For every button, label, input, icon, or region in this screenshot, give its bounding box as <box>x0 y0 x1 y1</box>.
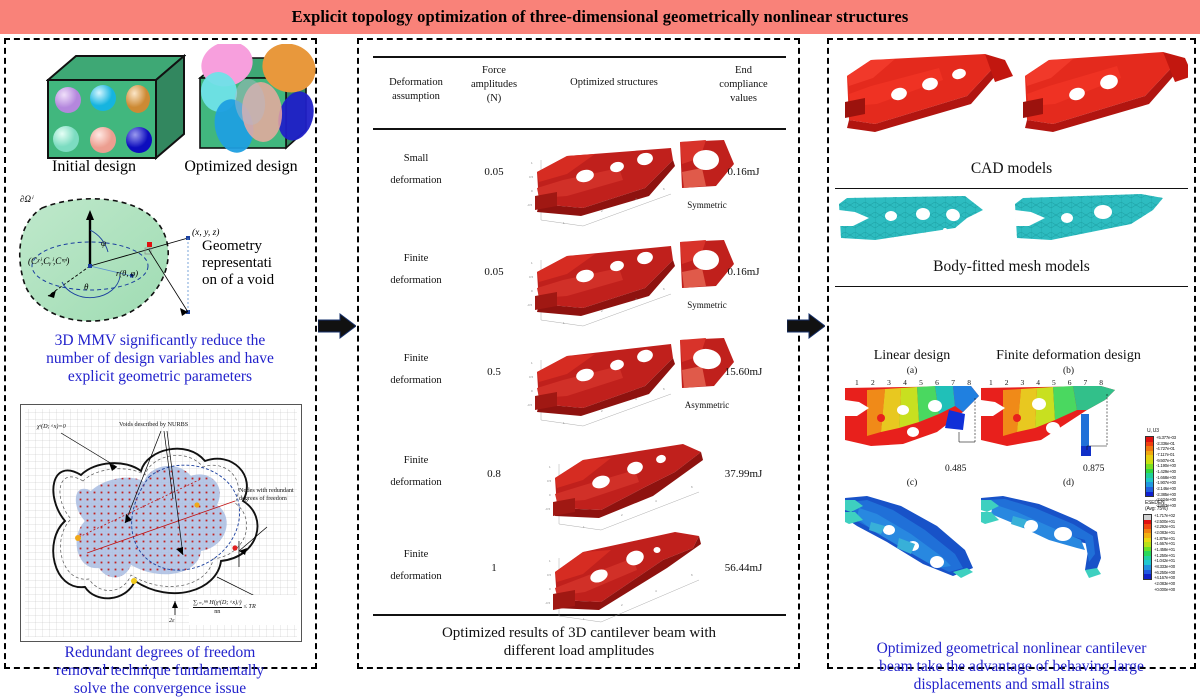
optimized-design-box <box>194 44 314 156</box>
cad-models-label: CAD models <box>835 160 1188 178</box>
fea-tag-c: (c) <box>847 478 977 488</box>
mid-caption-line-2: different load amplitudes <box>379 642 779 660</box>
cbar-en-v9: +8.333e+00 <box>1154 564 1175 570</box>
initial-design-label: Initial design <box>24 158 164 176</box>
geo-caption-line-2: representati <box>202 255 312 272</box>
svg-text:1: 1 <box>549 465 551 469</box>
nurbs-epsilon-label: 2ε <box>169 617 175 625</box>
cbar-disp-v6: -1.429e+00 <box>1156 469 1176 475</box>
dimension-value-finite: 0.875 <box>1083 464 1104 474</box>
col1-line1: Deformation <box>373 76 459 90</box>
arrow-right-icon <box>787 313 825 339</box>
svg-text:0: 0 <box>531 389 533 393</box>
row2-zoom-label: Symmetric <box>673 300 741 310</box>
svg-text:6: 6 <box>663 187 665 191</box>
row2-force-value: 0.05 <box>457 266 531 278</box>
divider-after-cad <box>835 188 1188 189</box>
row5-def-line1: Finite <box>373 544 459 566</box>
fea-tag-a: (a) <box>847 366 977 376</box>
colorbar-displacement-values: +5.377e-03 -2.336e-01 -4.727e-01 -7.117e… <box>1156 435 1176 509</box>
column-header-force: Force amplitudes (N) <box>457 64 531 107</box>
svg-text:0.5: 0.5 <box>547 479 552 483</box>
svg-text:4: 4 <box>655 499 657 503</box>
cbar-en-v6: +1.458e+01 <box>1154 547 1175 553</box>
row4-compliance-value: 37.99mJ <box>701 468 786 480</box>
center-coords-label: (Cᵡⁱ,Cᵧⁱ,Cᶬⁱ) <box>28 256 69 267</box>
row4-force-value: 0.8 <box>457 468 531 480</box>
row1-structure-3d: 10.50-0.5 1246 <box>523 134 678 228</box>
svg-text:1: 1 <box>531 261 533 265</box>
mesh-models-label: Body-fitted mesh models <box>835 258 1188 276</box>
svg-text:1: 1 <box>563 321 565 325</box>
col3-line1: Optimized structures <box>529 76 699 90</box>
row3-force-value: 0.5 <box>457 366 531 378</box>
point-coords-label: (x, y, z) <box>192 228 219 238</box>
nonlinear-advantage-caption: Optimized geometrical nonlinear cantilev… <box>835 640 1188 694</box>
fea-plot-a <box>841 384 981 462</box>
col4-line3: values <box>701 92 786 106</box>
nurbs-levelset-label: χˢ(D; ᵃx)=0 <box>37 423 66 431</box>
page-title: Explicit topology optimization of three-… <box>292 7 909 27</box>
table-row: Finite deformation <box>373 348 459 392</box>
row5-def-line2: deformation <box>373 566 459 588</box>
theta-angle-label: θ <box>84 282 88 292</box>
column-header-deformation: Deformation assumption <box>373 76 459 104</box>
colorbar-energy-title: ESEDEN (Avg: 75%) <box>1145 500 1168 513</box>
row4-def-line2: deformation <box>373 472 459 494</box>
row5-structure-3d: 10.50-0.5 1246 <box>543 530 708 626</box>
row2-def-line2: deformation <box>373 270 459 292</box>
arrow-right-icon <box>318 313 356 339</box>
col2-line3: (N) <box>457 92 531 106</box>
svg-text:1: 1 <box>583 617 585 621</box>
row1-force-value: 0.05 <box>457 166 531 178</box>
svg-text:-0.5: -0.5 <box>527 303 533 307</box>
colorbar-energy-values: +1.717e+02 +2.500e+01 +2.292e+01 +2.083e… <box>1154 513 1175 592</box>
svg-text:-0.5: -0.5 <box>527 403 533 407</box>
initial-design-svg <box>46 52 186 164</box>
row4-def-line1: Finite <box>373 450 459 472</box>
row2-def-line1: Finite <box>373 248 459 270</box>
svg-text:1: 1 <box>531 161 533 165</box>
cbar-disp-v9: -2.146e+00 <box>1156 486 1176 492</box>
svg-text:-0.5: -0.5 <box>527 203 533 207</box>
nurbs-constraint-formula: ∑ᵢ₌₁ⁿⁿ H(χˢ(D; ᵃx)ᵢˢ) nn ≤ TR <box>193 599 256 615</box>
void-geometry-figure: ∂Ωⁱ (Cᵡⁱ,Cᵧⁱ,Cᶬⁱ) (x, y, z) φ θ r(θ, φ) … <box>6 190 315 330</box>
svg-text:1: 1 <box>531 361 533 365</box>
table-row: Finite deformation <box>373 450 459 494</box>
fea-plot-d <box>977 492 1119 584</box>
flow-arrow-2 <box>787 313 825 339</box>
svg-text:-0.5: -0.5 <box>545 507 551 511</box>
svg-text:0: 0 <box>531 289 533 293</box>
column-header-compliance: End compliance values <box>701 64 786 107</box>
cbar-disp-v3: -7.117e-01 <box>1156 452 1176 458</box>
validation-sections: CAD models <box>829 40 1194 667</box>
fea-plot-b <box>977 384 1119 462</box>
table-rule-top <box>373 56 786 58</box>
nurbs-void-figure: χˢ(D; ᵃx)=0 Voids described by NURBS Nod… <box>20 404 302 642</box>
radius-function-label: r(θ, φ) <box>116 268 138 278</box>
geometry-representation-caption: Geometry representati on of a void <box>202 238 312 288</box>
colorbar-displacement-title: U, U3 <box>1147 428 1159 434</box>
boundary-symbol-label: ∂Ωⁱ <box>20 194 33 205</box>
optimized-design-svg <box>194 44 316 162</box>
page-title-bar: Explicit topology optimization of three-… <box>0 0 1200 34</box>
row1-def-line2: deformation <box>373 170 459 192</box>
row2-compliance-value: 0.16mJ <box>701 266 786 278</box>
svg-text:1: 1 <box>563 421 565 425</box>
row1-compliance-value: 0.16mJ <box>701 166 786 178</box>
row5-compliance-value: 56.44mJ <box>701 562 786 574</box>
svg-text:1: 1 <box>583 525 585 529</box>
mmv-caption-line-1: 3D MMV significantly reduce the <box>10 332 310 350</box>
right-caption-line-3: displacements and small strains <box>835 676 1188 694</box>
cbar-en-v13: +0.000e+00 <box>1154 587 1175 593</box>
svg-text:1: 1 <box>563 221 565 225</box>
table-rule-header <box>373 128 786 130</box>
nurbs-nodes-text: Nodes with redundant degrees of freedom <box>239 487 294 502</box>
cad-model-left <box>835 46 1188 158</box>
svg-text:4: 4 <box>655 589 657 593</box>
svg-text:0.5: 0.5 <box>547 573 552 577</box>
svg-text:0.5: 0.5 <box>529 275 534 279</box>
row3-zoom-label: Asymmetric <box>671 400 743 410</box>
mmv-caption: 3D MMV significantly reduce the number o… <box>10 332 310 386</box>
col2-line2: amplitudes <box>457 78 531 92</box>
svg-text:0.5: 0.5 <box>529 375 534 379</box>
cbar-disp-title-line1: U, U3 <box>1147 428 1159 434</box>
row3-def-line2: deformation <box>373 370 459 392</box>
svg-text:2: 2 <box>621 513 623 517</box>
panel-validation: CAD models <box>827 38 1196 669</box>
row1-zoom-label: Symmetric <box>673 200 741 210</box>
svg-text:-0.5: -0.5 <box>545 601 551 605</box>
col1-line2: assumption <box>373 90 459 104</box>
results-table: Deformation assumption Force amplitudes … <box>373 50 786 660</box>
fea-header-finite: Finite deformation design <box>981 348 1156 364</box>
svg-text:1: 1 <box>549 559 551 563</box>
row3-def-line1: Finite <box>373 348 459 370</box>
row5-force-value: 1 <box>457 562 531 574</box>
right-caption-line-2: beam take the advantage of behaving larg… <box>835 658 1188 676</box>
constraint-rhs: ≤ TR <box>244 603 256 611</box>
panel-methodology: Initial design Optimized design <box>4 38 317 669</box>
colorbar-energy-swatch <box>1143 514 1152 580</box>
cbar-en-v12: +2.083e+00 <box>1154 581 1175 587</box>
nurbs-nodes-label: Nodes with redundant degrees of freedom <box>239 487 297 502</box>
column-header-structures: Optimized structures <box>529 76 699 90</box>
svg-text:0: 0 <box>549 587 551 591</box>
results-table-caption: Optimized results of 3D cantilever beam … <box>379 624 779 660</box>
flow-arrow-1 <box>318 313 356 339</box>
optimized-design-label: Optimized design <box>166 158 316 176</box>
svg-text:2: 2 <box>621 603 623 607</box>
svg-text:6: 6 <box>663 387 665 391</box>
mmv-caption-line-3: explicit geometric parameters <box>10 368 310 386</box>
geo-caption-line-1: Geometry <box>202 238 312 255</box>
right-caption-line-1: Optimized geometrical nonlinear cantilev… <box>835 640 1188 658</box>
svg-text:6: 6 <box>691 573 693 577</box>
constraint-numerator: ∑ᵢ₌₁ⁿⁿ H(χˢ(D; ᵃx)ᵢˢ) <box>193 599 242 608</box>
col2-line1: Force <box>457 64 531 78</box>
initial-design-box <box>46 52 186 157</box>
fea-tag-d: (d) <box>981 478 1156 488</box>
mesh-models <box>835 192 1188 256</box>
svg-text:2: 2 <box>601 409 603 413</box>
divider-after-mesh <box>835 286 1188 287</box>
mid-caption-line-1: Optimized results of 3D cantilever beam … <box>379 624 779 642</box>
fea-plot-c <box>841 492 981 584</box>
rdof-caption-line-1: Redundant degrees of freedom <box>10 644 310 662</box>
svg-text:6: 6 <box>691 485 693 489</box>
col4-line1: End <box>701 64 786 78</box>
design-comparison-figure: Initial design Optimized design <box>6 40 315 190</box>
phi-angle-label: φ <box>101 238 106 248</box>
panel-results-table: Deformation assumption Force amplitudes … <box>357 38 800 669</box>
row3-structure-3d: 10.50-0.5 1246 <box>523 334 678 428</box>
svg-text:0: 0 <box>531 189 533 193</box>
cbar-en-v0: +1.717e+02 <box>1154 513 1175 519</box>
cbar-en-v3: +2.083e+01 <box>1154 530 1175 536</box>
geo-caption-line-3: on of a void <box>202 272 312 289</box>
svg-text:0.5: 0.5 <box>529 175 534 179</box>
dimension-value-linear: 0.485 <box>945 464 966 474</box>
fea-tag-b: (b) <box>981 366 1156 376</box>
row2-structure-3d: 10.50-0.5 1246 <box>523 234 678 328</box>
rdof-caption-line-2: removal technique fundamentally <box>10 662 310 680</box>
table-row: Finite deformation <box>373 248 459 292</box>
rdof-caption: Redundant degrees of freedom removal tec… <box>10 644 310 698</box>
rdof-caption-line-3: solve the convergence issue <box>10 680 310 698</box>
cbar-energy-title-line2: (Avg: 75%) <box>1145 506 1168 512</box>
constraint-denominator: nn <box>193 608 242 616</box>
nurbs-voids-label: Voids described by NURBS <box>119 421 188 429</box>
cbar-disp-v0: +5.377e-03 <box>1156 435 1176 441</box>
row4-structure-3d: 10.50-0.5 1246 <box>543 438 708 534</box>
table-row: Finite deformation <box>373 544 459 588</box>
svg-text:6: 6 <box>663 287 665 291</box>
svg-text:0: 0 <box>549 493 551 497</box>
fea-header-linear: Linear design <box>847 348 977 364</box>
row1-def-line1: Small <box>373 148 459 170</box>
col4-line2: compliance <box>701 78 786 92</box>
table-row: Small deformation <box>373 148 459 192</box>
mmv-caption-line-2: number of design variables and have <box>10 350 310 368</box>
row3-compliance-value: 15.60mJ <box>701 366 786 378</box>
nurbs-svg <box>21 405 301 641</box>
